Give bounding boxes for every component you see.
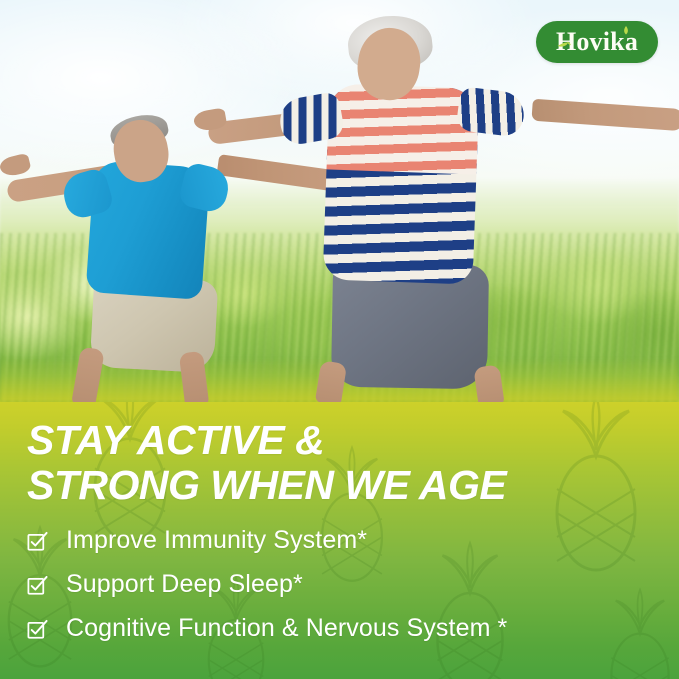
- brand-logo[interactable]: Hovika: [536, 21, 658, 63]
- woman-figure: [210, 18, 679, 402]
- benefit-label: Cognitive Function & Nervous System *: [66, 614, 507, 643]
- headline-line-2: STRONG WHEN WE AGE: [27, 463, 657, 508]
- brand-logo-inner: Hovika: [556, 29, 638, 55]
- checkbox-checked-icon: [27, 575, 48, 596]
- benefit-label: Improve Immunity System*: [66, 526, 367, 555]
- list-item: Cognitive Function & Nervous System *: [27, 614, 657, 643]
- woman-right-leg: [473, 364, 504, 402]
- woman-striped-top: [323, 83, 480, 284]
- promo-band: STAY ACTIVE & STRONG WHEN WE AGE Improve…: [0, 402, 679, 679]
- woman-left-leg: [315, 360, 347, 402]
- promo-headline: STAY ACTIVE & STRONG WHEN WE AGE: [27, 418, 657, 508]
- hero-photo: Hovika: [0, 0, 679, 402]
- headline-line-1: STAY ACTIVE &: [27, 418, 657, 463]
- benefit-label: Support Deep Sleep*: [66, 570, 303, 599]
- leaf-icon: [557, 41, 572, 48]
- list-item: Improve Immunity System*: [27, 526, 657, 555]
- product-ad-banner: Hovika: [0, 0, 679, 679]
- checkbox-checked-icon: [27, 531, 48, 552]
- man-left-leg: [71, 346, 105, 402]
- woman-right-arm: [531, 99, 679, 132]
- leaf-icon: [622, 26, 630, 35]
- woman-right-sleeve: [456, 86, 527, 138]
- checkbox-checked-icon: [27, 619, 48, 640]
- woman-top-coral-stripes: [326, 83, 479, 174]
- benefits-list: Improve Immunity System* Support Deep Sl…: [27, 526, 657, 642]
- promo-content: STAY ACTIVE & STRONG WHEN WE AGE Improve…: [0, 402, 679, 679]
- list-item: Support Deep Sleep*: [27, 570, 657, 599]
